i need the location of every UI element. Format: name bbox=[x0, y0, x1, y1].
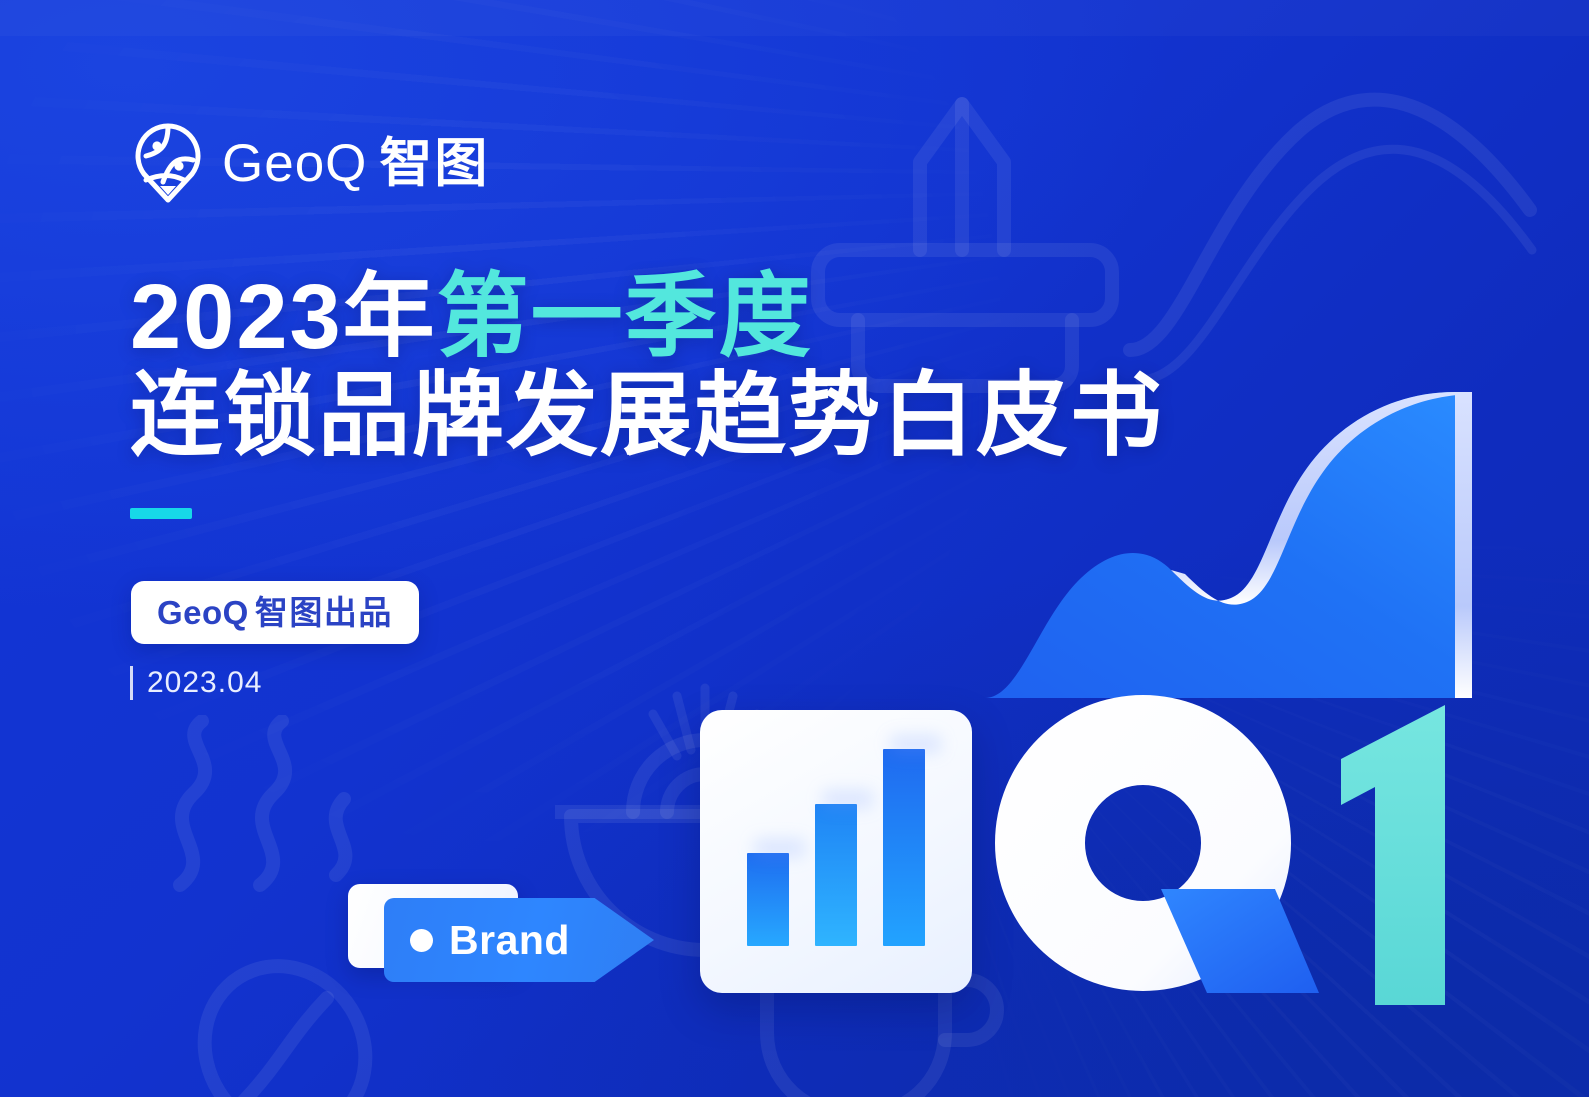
bar-chart-icon bbox=[700, 710, 972, 993]
bar-3 bbox=[883, 749, 925, 946]
bar-chart-bars bbox=[700, 746, 972, 946]
publisher-badge: GeoQ智图出品 bbox=[131, 581, 419, 644]
date-value: 2023.04 bbox=[147, 668, 262, 698]
publisher-badge-text: GeoQ智图出品 bbox=[157, 596, 393, 629]
geoq-logo: GeoQ智图 bbox=[132, 122, 489, 204]
title-quarter: 第一季度 bbox=[437, 268, 813, 367]
publisher-badge-en: GeoQ bbox=[157, 594, 249, 631]
accent-divider bbox=[130, 508, 192, 519]
date-rule bbox=[130, 666, 133, 700]
bullet-dot-icon bbox=[410, 929, 433, 952]
quarter-q1-graphic bbox=[975, 675, 1495, 1015]
logo-wordmark-cn: 智图 bbox=[379, 134, 489, 193]
steam-wisp-icon bbox=[150, 715, 380, 895]
title-line-1: 2023年第一季度 bbox=[130, 268, 1160, 367]
geo-pin-globe-icon bbox=[132, 122, 204, 204]
letter-q bbox=[995, 695, 1319, 993]
brand-tag-label: Brand bbox=[449, 920, 570, 961]
area-chart-wave-icon bbox=[985, 372, 1490, 702]
logo-wordmark: GeoQ智图 bbox=[222, 137, 489, 190]
numeral-one bbox=[1341, 705, 1445, 1005]
publication-date: 2023.04 bbox=[130, 666, 262, 700]
bar-2 bbox=[815, 804, 857, 946]
bar-1 bbox=[747, 853, 789, 946]
arch-outline-icon bbox=[1120, 60, 1540, 390]
whitepaper-cover: GeoQ智图 2023年第一季度 连锁品牌发展趋势白皮书 GeoQ智图出品 20… bbox=[0, 0, 1589, 1097]
brand-tag-front: Brand bbox=[384, 898, 654, 982]
brand-tag: Brand bbox=[348, 884, 658, 984]
title-year: 2023年 bbox=[130, 268, 437, 367]
logo-wordmark-en: GeoQ bbox=[222, 134, 367, 193]
horizontal-band-decoration bbox=[0, 0, 1589, 36]
publisher-badge-cn: 智图出品 bbox=[255, 594, 393, 631]
